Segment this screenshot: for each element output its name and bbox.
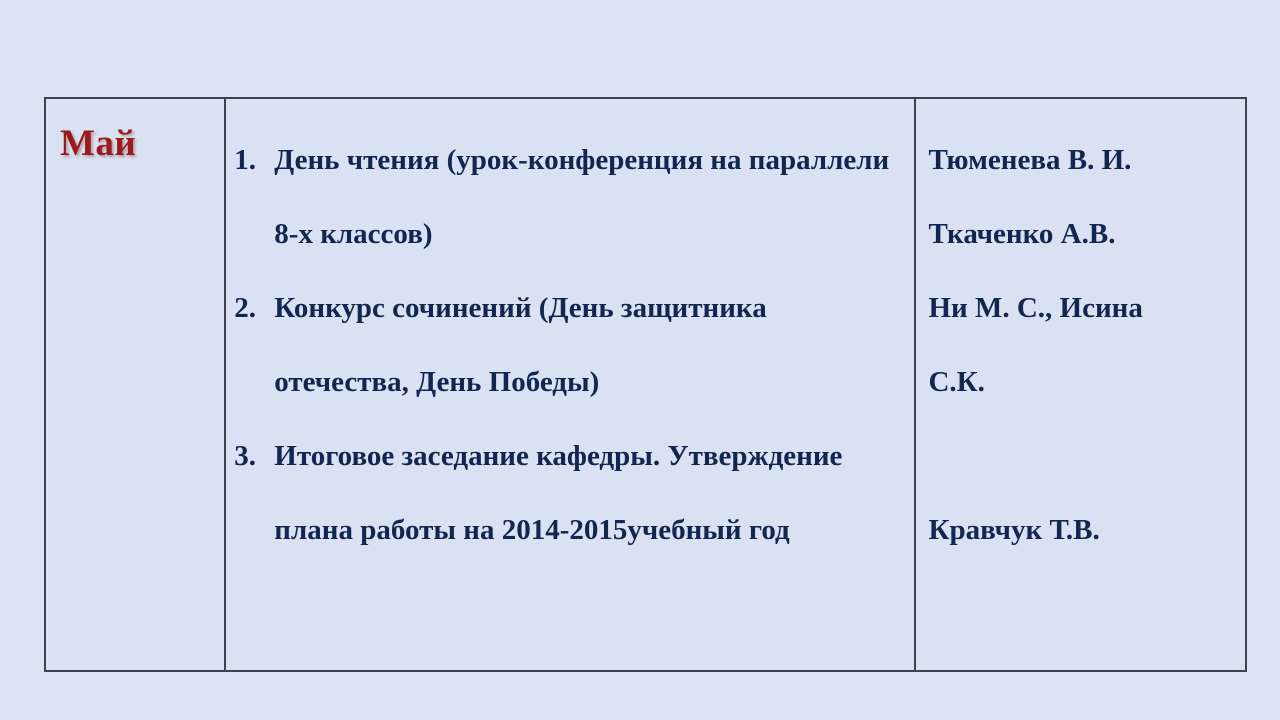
person-line-spacer [928, 419, 1239, 493]
event-text: Итоговое заседание кафедры. Утверждение … [274, 440, 842, 546]
event-number: 2. [234, 271, 256, 345]
slide-canvas: Май 1. День чтения (урок-конференция на … [0, 0, 1280, 720]
event-text: Конкурс сочинений (День защитника отечес… [274, 292, 766, 398]
event-list: 1. День чтения (урок-конференция на пара… [234, 123, 904, 567]
persons-cell-inner: Тюменева В. И. Ткаченко А.В. Ни М. С., И… [916, 99, 1245, 567]
event-number: 1. [234, 123, 256, 197]
list-item: 3. Итоговое заседание кафедры. Утвержден… [234, 419, 904, 567]
list-item: 2. Конкурс сочинений (День защитника оте… [234, 271, 904, 419]
table-row: Май 1. День чтения (урок-конференция на … [45, 98, 1246, 671]
month-cell: Май [45, 98, 225, 671]
list-item: 1. День чтения (урок-конференция на пара… [234, 123, 904, 271]
month-label: Май [60, 125, 224, 162]
month-cell-inner: Май [46, 99, 224, 162]
events-cell: 1. День чтения (урок-конференция на пара… [225, 98, 915, 671]
schedule-table: Май 1. День чтения (урок-конференция на … [44, 97, 1247, 672]
events-cell-inner: 1. День чтения (урок-конференция на пара… [226, 99, 914, 567]
person-line: Кравчук Т.В. [928, 493, 1239, 567]
event-text: День чтения (урок-конференция на паралле… [274, 144, 889, 250]
event-number: 3. [234, 419, 256, 493]
person-line: Ни М. С., Исина [928, 271, 1239, 345]
persons-cell: Тюменева В. И. Ткаченко А.В. Ни М. С., И… [915, 98, 1246, 671]
person-line: С.К. [928, 345, 1239, 419]
person-line: Ткаченко А.В. [928, 197, 1239, 271]
person-line: Тюменева В. И. [928, 123, 1239, 197]
